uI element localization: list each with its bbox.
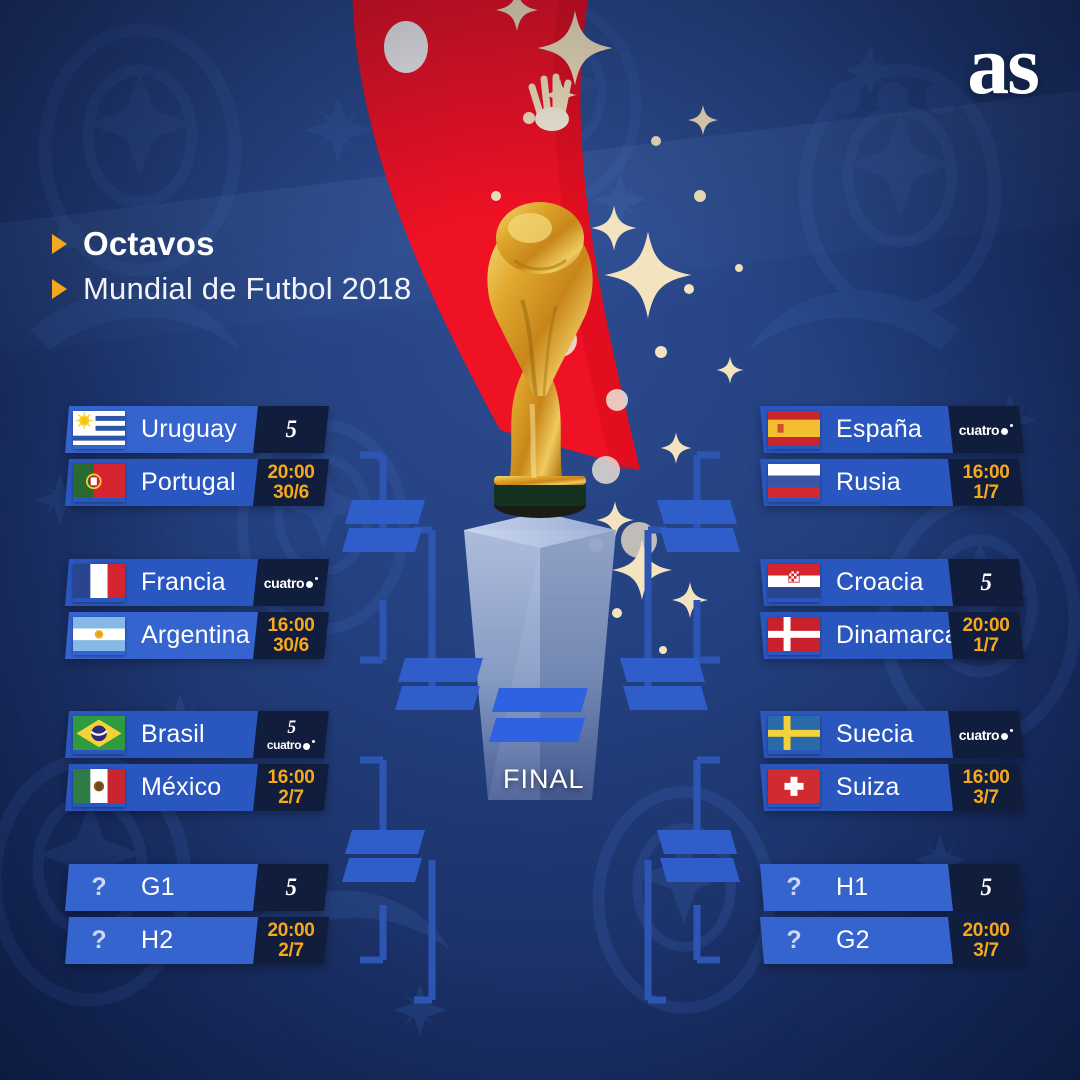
- match-card[interactable]: Brasil5cuatro México16:002/7: [65, 711, 325, 817]
- telecinco-logo: 5: [287, 717, 295, 739]
- kickoff-time: 16:00: [267, 768, 314, 787]
- channel-badge: 5cuatro: [253, 711, 329, 758]
- title-row-secondary: Mundial de Futbol 2018: [52, 271, 411, 307]
- kickoff-badge: 20:003/7: [948, 917, 1024, 964]
- telecinco-logo: 5: [981, 874, 992, 902]
- triangle-right-icon: [52, 234, 67, 254]
- kickoff-badge: 16:0030/6: [253, 612, 329, 659]
- match-team-row[interactable]: México16:002/7: [65, 764, 325, 811]
- team-name: Croacia: [836, 568, 924, 597]
- channel-badge: cuatro: [948, 711, 1024, 758]
- title-row-primary: Octavos: [52, 225, 411, 263]
- team-name: Francia: [141, 568, 226, 597]
- match-team-row[interactable]: Brasil5cuatro: [65, 711, 325, 758]
- telecinco-logo: 5: [286, 874, 297, 902]
- kickoff-date: 1/7: [973, 636, 999, 655]
- page-title: Octavos: [83, 225, 215, 263]
- unknown-team-icon: ?: [73, 922, 125, 960]
- match-team-row[interactable]: Uruguay5: [65, 406, 325, 453]
- quarterfinal-slot-left-2-top[interactable]: [345, 830, 425, 854]
- kickoff-time: 20:00: [962, 616, 1009, 635]
- kickoff-date: 2/7: [278, 941, 304, 960]
- quarterfinal-slot-right-2-top[interactable]: [657, 830, 737, 854]
- channel-badge: cuatro: [253, 559, 329, 606]
- flag-suecia: [768, 716, 820, 754]
- match-card[interactable]: Croacia5 Dinamarca20:001/7: [760, 559, 1020, 665]
- flag-argentina: [73, 617, 125, 655]
- match-team-row[interactable]: ?G15: [65, 864, 325, 911]
- kickoff-time: 20:00: [267, 921, 314, 940]
- flag-dinamarca: [768, 617, 820, 655]
- telecinco-logo: 5: [981, 569, 992, 597]
- match-team-row[interactable]: ?H15: [760, 864, 1020, 911]
- team-name: G1: [141, 873, 175, 902]
- team-name: Uruguay: [141, 415, 237, 444]
- channel-badge: 5: [948, 864, 1024, 911]
- unknown-team-icon: ?: [768, 922, 820, 960]
- team-name: G2: [836, 926, 870, 955]
- flag-rusia: [768, 464, 820, 502]
- team-name: México: [141, 773, 221, 802]
- match-team-row[interactable]: Españacuatro: [760, 406, 1020, 453]
- channel-badge: 5: [253, 406, 329, 453]
- unknown-team-icon: ?: [73, 869, 125, 907]
- final-slot-top[interactable]: [492, 688, 588, 712]
- match-team-row[interactable]: Franciacuatro: [65, 559, 325, 606]
- kickoff-badge: 16:001/7: [948, 459, 1024, 506]
- match-card[interactable]: Franciacuatro Argentina16:0030/6: [65, 559, 325, 665]
- infographic-stage: FINAL as Octavos Mundial de Futbol 2018 …: [0, 0, 1080, 1080]
- semifinal-slot-right-bottom[interactable]: [623, 686, 708, 710]
- unknown-team-icon: ?: [768, 869, 820, 907]
- match-card[interactable]: Uruguay5 Portugal20:0030/6: [65, 406, 325, 512]
- match-team-row[interactable]: ?G220:003/7: [760, 917, 1020, 964]
- team-name: H1: [836, 873, 868, 902]
- final-slot-bottom[interactable]: [489, 718, 585, 742]
- team-name: H2: [141, 926, 173, 955]
- team-name: Rusia: [836, 468, 901, 497]
- quarterfinal-slot-left-2-bottom[interactable]: [342, 858, 422, 882]
- title-block: Octavos Mundial de Futbol 2018: [52, 225, 411, 315]
- match-team-row[interactable]: ?H220:002/7: [65, 917, 325, 964]
- channel-badge: cuatro: [948, 406, 1024, 453]
- flag-espana: [768, 411, 820, 449]
- flag-croacia: [768, 564, 820, 602]
- team-name: Brasil: [141, 720, 205, 749]
- quarterfinal-slot-right-1-bottom[interactable]: [660, 528, 740, 552]
- cuatro-logo: cuatro: [959, 422, 1013, 438]
- team-name: España: [836, 415, 922, 444]
- kickoff-date: 3/7: [973, 941, 999, 960]
- final-label: FINAL: [503, 764, 585, 795]
- kickoff-time: 20:00: [962, 921, 1009, 940]
- cuatro-logo: cuatro: [267, 738, 315, 752]
- telecinco-logo: 5: [286, 416, 297, 444]
- flag-suiza: [768, 769, 820, 807]
- kickoff-date: 1/7: [973, 483, 999, 502]
- kickoff-time: 16:00: [267, 616, 314, 635]
- kickoff-date: 30/6: [273, 636, 309, 655]
- match-card[interactable]: ?G15?H220:002/7: [65, 864, 325, 970]
- match-team-row[interactable]: Sueciacuatro: [760, 711, 1020, 758]
- page-subtitle: Mundial de Futbol 2018: [83, 271, 411, 307]
- kickoff-badge: 20:001/7: [948, 612, 1024, 659]
- kickoff-badge: 20:002/7: [253, 917, 329, 964]
- kickoff-badge: 16:002/7: [253, 764, 329, 811]
- team-name: Suecia: [836, 720, 914, 749]
- semifinal-slot-left-bottom[interactable]: [395, 686, 480, 710]
- flag-uruguay: [73, 411, 125, 449]
- team-name: Portugal: [141, 468, 236, 497]
- team-name: Argentina: [141, 621, 250, 650]
- flag-francia: [73, 564, 125, 602]
- triangle-right-icon: [52, 279, 67, 299]
- match-team-row[interactable]: Dinamarca20:001/7: [760, 612, 1020, 659]
- match-team-row[interactable]: Argentina16:0030/6: [65, 612, 325, 659]
- semifinal-slot-left-top[interactable]: [398, 658, 483, 682]
- match-card[interactable]: ?H15?G220:003/7: [760, 864, 1020, 970]
- kickoff-date: 3/7: [973, 788, 999, 807]
- flag-portugal: [73, 464, 125, 502]
- flag-brasil: [73, 716, 125, 754]
- channel-badge: 5: [948, 559, 1024, 606]
- channel-badge: 5: [253, 864, 329, 911]
- cuatro-logo: cuatro: [264, 575, 318, 591]
- cuatro-logo: cuatro: [959, 727, 1013, 743]
- kickoff-badge: 16:003/7: [948, 764, 1024, 811]
- match-team-row[interactable]: Croacia5: [760, 559, 1020, 606]
- team-name: Dinamarca: [836, 621, 959, 650]
- quarterfinal-slot-left-1-bottom[interactable]: [342, 528, 422, 552]
- quarterfinal-slot-right-2-bottom[interactable]: [660, 858, 740, 882]
- match-card[interactable]: Españacuatro Rusia16:001/7: [760, 406, 1020, 512]
- semifinal-slot-right-top[interactable]: [620, 658, 705, 682]
- match-team-row[interactable]: Suiza16:003/7: [760, 764, 1020, 811]
- kickoff-time: 16:00: [962, 463, 1009, 482]
- kickoff-date: 30/6: [273, 483, 309, 502]
- as-logo[interactable]: as: [967, 28, 1038, 104]
- kickoff-date: 2/7: [278, 788, 304, 807]
- match-team-row[interactable]: Portugal20:0030/6: [65, 459, 325, 506]
- flag-mexico: [73, 769, 125, 807]
- team-name: Suiza: [836, 773, 900, 802]
- kickoff-badge: 20:0030/6: [253, 459, 329, 506]
- match-team-row[interactable]: Rusia16:001/7: [760, 459, 1020, 506]
- match-card[interactable]: Sueciacuatro Suiza16:003/7: [760, 711, 1020, 817]
- kickoff-time: 16:00: [962, 768, 1009, 787]
- kickoff-time: 20:00: [267, 463, 314, 482]
- quarterfinal-slot-left-1-top[interactable]: [345, 500, 425, 524]
- quarterfinal-slot-right-1-top[interactable]: [657, 500, 737, 524]
